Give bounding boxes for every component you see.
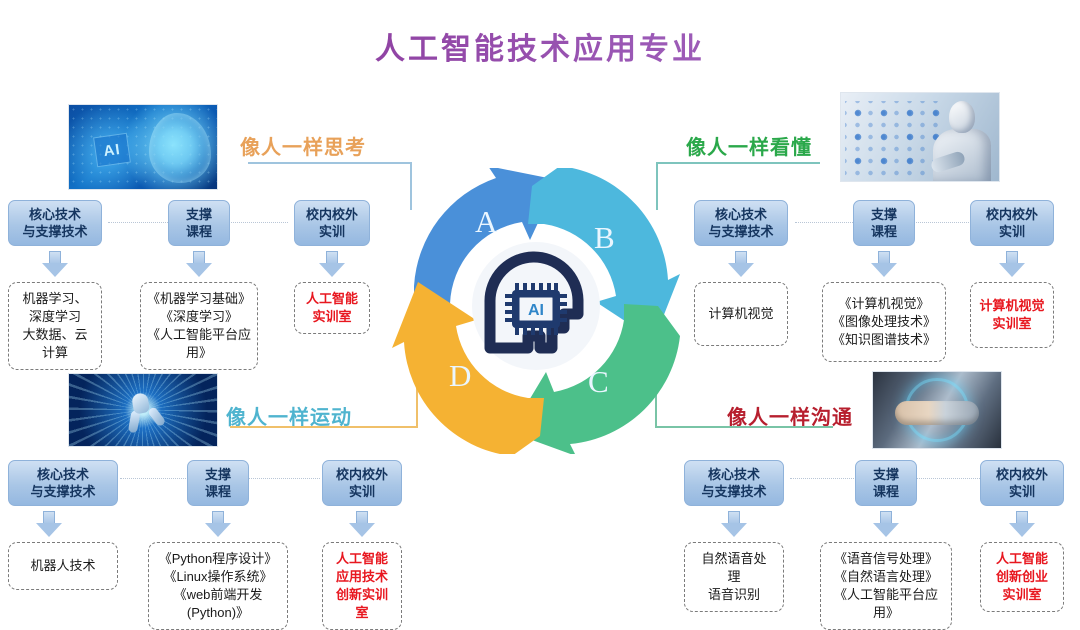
content-line: 理 [691,568,777,586]
pill-line-1: 校内校外 [989,466,1055,483]
photo-robot-running [68,373,218,447]
pill-line-1: 核心技术 [17,466,109,483]
quadrant-headline-a: 像人一样思考 [240,131,366,160]
content-box-b-core: 计算机视觉 [694,282,788,346]
arrow-down-icon [1009,511,1035,537]
content-box-d-courses: 《Python程序设计》 《Linux操作系统》 《web前端开发 (Pytho… [148,542,288,630]
content-line: 人工智能 [329,550,395,568]
content-line: 计算机视觉 [975,297,1049,315]
pill-support-courses-d[interactable]: 支撑 课程 [187,460,249,506]
pill-line-2: 与支撑技术 [17,483,109,500]
content-line: 实训室 [975,315,1049,333]
pill-line-1: 支撑 [864,466,908,483]
column-d-training: 校内校外 实训 人工智能 应用技术 创新实训 室 [322,460,402,630]
content-line: 《计算机视觉》 [829,295,939,313]
column-c-courses: 支撑 课程 《语音信号处理》 《自然语言处理》 《人工智能平台应 用》 [820,460,952,630]
cycle-diagram: AI A B C D [392,168,680,454]
column-c-training: 校内校外 实训 人工智能 创新创业 实训室 [980,460,1064,612]
content-line: 《人工智能平台应 [147,326,251,344]
pill-support-courses-a[interactable]: 支撑 课程 [168,200,230,246]
pill-line-2: 实训 [303,223,361,240]
content-box-c-courses: 《语音信号处理》 《自然语言处理》 《人工智能平台应 用》 [820,542,952,630]
content-box-a-training: 人工智能 实训室 [294,282,370,334]
content-line: 《机器学习基础》 [147,290,251,308]
content-line: 《自然语言处理》 [827,568,945,586]
head-with-ai-chip-icon: AI [466,236,606,376]
pill-support-courses-c[interactable]: 支撑 课程 [855,460,917,506]
quadrant-letter-c: C [588,364,609,400]
pill-line-1: 校内校外 [303,206,361,223]
pill-line-1: 核心技术 [17,206,93,223]
content-line: 室 [329,604,395,622]
content-box-b-courses: 《计算机视觉》 《图像处理技术》 《知识图谱技术》 [822,282,946,362]
column-a-courses: 支撑 课程 《机器学习基础》 《深度学习》 《人工智能平台应 用》 [140,200,258,370]
pill-training-b[interactable]: 校内校外 实训 [970,200,1054,246]
content-line: 《图像处理技术》 [829,313,939,331]
content-box-d-training: 人工智能 应用技术 创新实训 室 [322,542,402,630]
photo-robot-thinking [840,92,1000,182]
page-title: 人工智能技术应用专业 [0,24,1080,68]
arrow-down-icon [721,511,747,537]
arrow-down-icon [349,511,375,537]
content-line: 《语音信号处理》 [827,550,945,568]
arrow-down-icon [999,251,1025,277]
arrow-down-icon [36,511,62,537]
column-d-core: 核心技术 与支撑技术 机器人技术 [8,460,118,590]
content-line: 自然语音处 [691,550,777,568]
pill-line-1: 校内校外 [331,466,393,483]
quadrant-letter-b: B [594,220,615,256]
pill-line-1: 支撑 [177,206,221,223]
pill-line-2: 课程 [862,223,906,240]
content-line: 《人工智能平台应 [827,586,945,604]
content-line: 《Linux操作系统》 [155,568,281,586]
content-line: 机器学习、 [15,290,95,308]
content-line: 大数据、云 [15,326,95,344]
arrow-down-icon [319,251,345,277]
pill-training-d[interactable]: 校内校外 实训 [322,460,402,506]
content-line: 创新实训 [329,586,395,604]
content-box-c-core: 自然语音处 理 语音识别 [684,542,784,612]
column-a-core: 核心技术 与支撑技术 机器学习、 深度学习 大数据、云 计算 [8,200,102,370]
arrow-down-icon [186,251,212,277]
content-line: 《知识图谱技术》 [829,331,939,349]
content-line: 用》 [147,344,251,362]
pill-line-2: 课程 [177,223,221,240]
content-line: 计算 [15,344,95,362]
content-line: 用》 [827,604,945,622]
arrow-down-icon [42,251,68,277]
content-line: 《Python程序设计》 [155,550,281,568]
pill-line-2: 实训 [331,483,393,500]
pill-line-2: 实训 [979,223,1045,240]
content-line: 应用技术 [329,568,395,586]
content-line: 创新创业 [987,568,1057,586]
photo-human-robot-handshake [872,371,1002,449]
pill-core-tech-c[interactable]: 核心技术 与支撑技术 [684,460,784,506]
pill-training-a[interactable]: 校内校外 实训 [294,200,370,246]
content-box-d-core: 机器人技术 [8,542,118,590]
content-line: 人工智能 [987,550,1057,568]
pill-core-tech-a[interactable]: 核心技术 与支撑技术 [8,200,102,246]
content-box-b-training: 计算机视觉 实训室 [970,282,1054,348]
pill-line-2: 与支撑技术 [703,223,779,240]
pill-line-2: 课程 [864,483,908,500]
content-line: 机器人技术 [15,557,111,575]
pill-core-tech-b[interactable]: 核心技术 与支撑技术 [694,200,788,246]
content-box-a-core: 机器学习、 深度学习 大数据、云 计算 [8,282,102,370]
pill-line-2: 与支撑技术 [17,223,93,240]
content-box-a-courses: 《机器学习基础》 《深度学习》 《人工智能平台应 用》 [140,282,258,370]
content-line: 深度学习 [15,308,95,326]
content-line: 人工智能 [301,290,363,308]
column-d-courses: 支撑 课程 《Python程序设计》 《Linux操作系统》 《web前端开发 … [148,460,288,630]
column-c-core: 核心技术 与支撑技术 自然语音处 理 语音识别 [684,460,784,612]
quadrant-letter-a: A [475,204,497,240]
diagram-canvas: 人工智能技术应用专业 AI 像人一样思考 像人一样看懂 像人一样运动 像人一样沟… [0,0,1080,608]
pill-support-courses-b[interactable]: 支撑 课程 [853,200,915,246]
pill-line-1: 支撑 [196,466,240,483]
quadrant-letter-d: D [449,358,471,394]
arrow-down-icon [873,511,899,537]
content-box-c-training: 人工智能 创新创业 实训室 [980,542,1064,612]
content-line: 实训室 [987,586,1057,604]
column-b-courses: 支撑 课程 《计算机视觉》 《图像处理技术》 《知识图谱技术》 [822,200,946,362]
content-line: (Python)》 [155,604,281,622]
arrow-down-icon [871,251,897,277]
pill-core-tech-d[interactable]: 核心技术 与支撑技术 [8,460,118,506]
content-line: 语音识别 [691,586,777,604]
content-line: 《深度学习》 [147,308,251,326]
column-b-core: 核心技术 与支撑技术 计算机视觉 [694,200,788,346]
ai-chip-text: AI [528,302,544,319]
quadrant-headline-b: 像人一样看懂 [686,131,812,160]
photo-ai-brain: AI [68,104,218,190]
pill-line-2: 课程 [196,483,240,500]
pill-training-c[interactable]: 校内校外 实训 [980,460,1064,506]
arrow-down-icon [205,511,231,537]
column-b-training: 校内校外 实训 计算机视觉 实训室 [970,200,1054,348]
content-line: 实训室 [301,308,363,326]
pill-line-2: 与支撑技术 [693,483,775,500]
pill-line-1: 校内校外 [979,206,1045,223]
pill-line-1: 支撑 [862,206,906,223]
pill-line-2: 实训 [989,483,1055,500]
pill-line-1: 核心技术 [693,466,775,483]
pill-line-1: 核心技术 [703,206,779,223]
content-line: 计算机视觉 [701,305,781,323]
connector-c [655,382,835,430]
arrow-down-icon [728,251,754,277]
content-line: 《web前端开发 [155,586,281,604]
column-a-training: 校内校外 实训 人工智能 实训室 [294,200,370,334]
